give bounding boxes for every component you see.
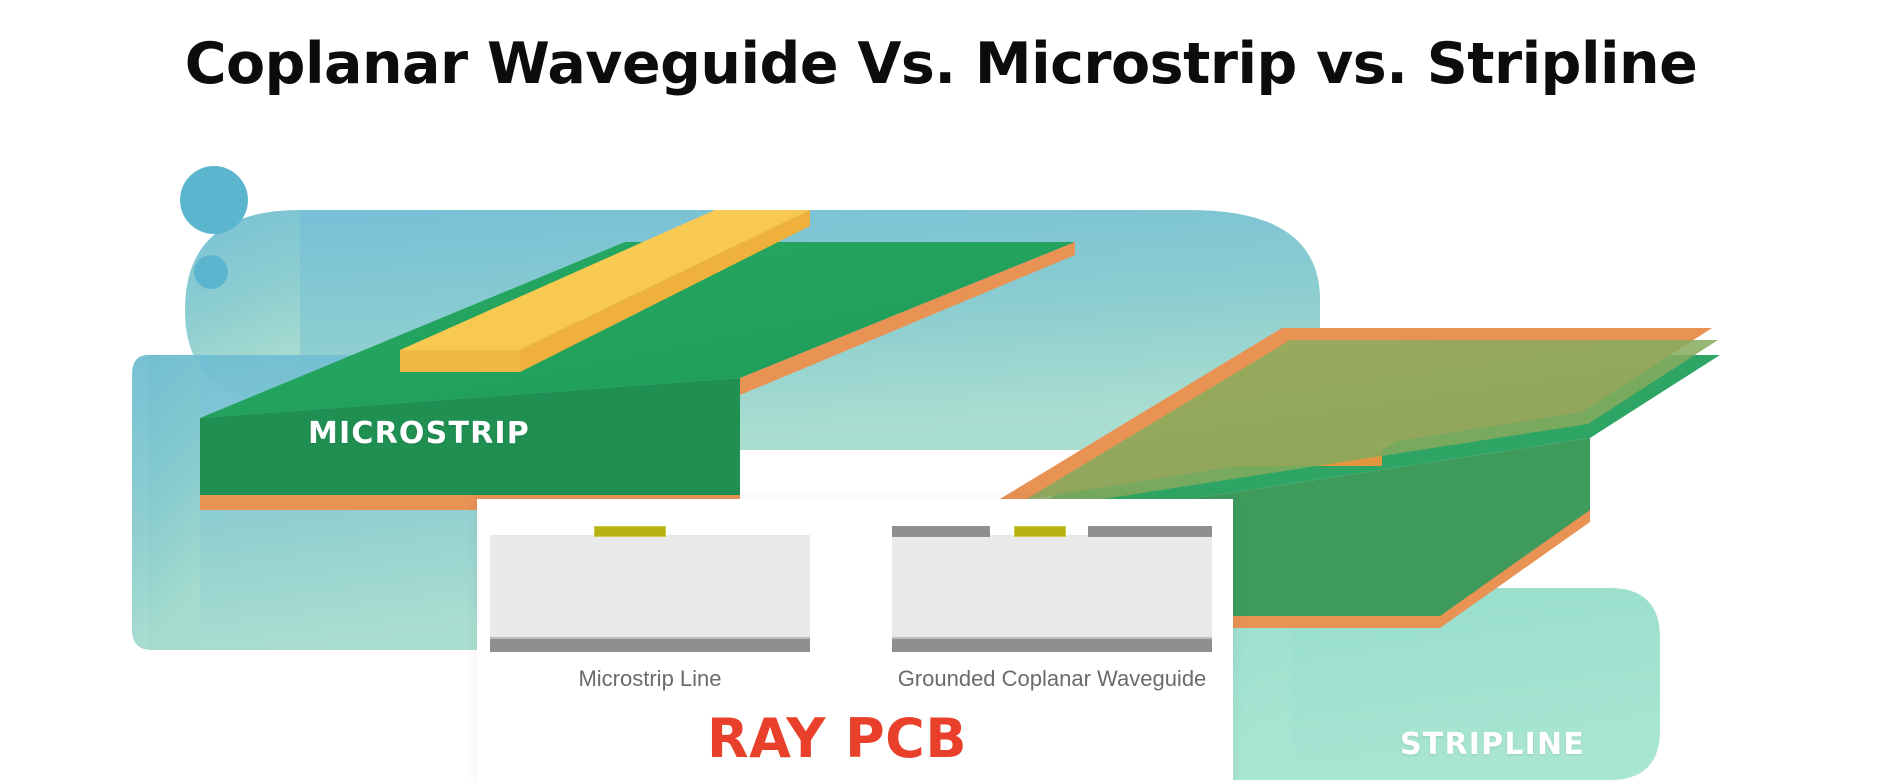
- gcpw-left-coplanar-ground: [892, 526, 990, 537]
- gcpw-caption: Grounded Coplanar Waveguide: [892, 664, 1212, 694]
- gcpw-substrate: [892, 535, 1212, 645]
- decorative-circle-large: [180, 166, 248, 234]
- decorative-circle-small: [194, 255, 228, 289]
- ray-pcb-watermark: RAY PCB: [707, 707, 967, 770]
- gcpw-signal-trace: [1014, 526, 1066, 537]
- gcpw-bottom-ground-plane: [892, 637, 1212, 652]
- cross-section-grounded-coplanar-waveguide: Grounded Coplanar Waveguide: [892, 516, 1212, 648]
- infographic-canvas: Coplanar Waveguide Vs. Microstrip vs. St…: [0, 0, 1882, 784]
- gcpw-figure: [892, 516, 1212, 648]
- microstrip-figure: [490, 516, 810, 648]
- page-title: Coplanar Waveguide Vs. Microstrip vs. St…: [0, 30, 1882, 98]
- microstrip-caption: Microstrip Line: [490, 664, 810, 694]
- microstrip-signal-trace: [594, 526, 666, 537]
- microstrip-substrate: [490, 535, 810, 645]
- gcpw-right-coplanar-ground: [1088, 526, 1212, 537]
- microstrip-bottom-ground-plane: [490, 637, 810, 652]
- cross-section-microstrip: Microstrip Line: [490, 516, 810, 648]
